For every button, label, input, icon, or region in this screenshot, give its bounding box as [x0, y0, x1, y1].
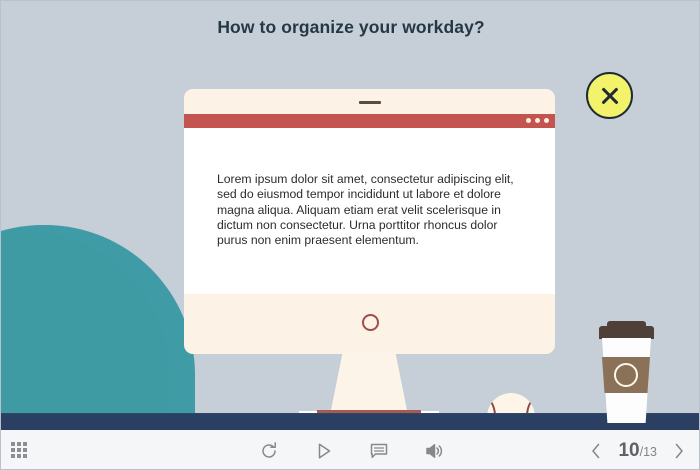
- speech-bubble-icon[interactable]: [367, 439, 391, 463]
- window-dot: [535, 118, 540, 123]
- grid-cell: [23, 454, 27, 458]
- monitor-home-button: [362, 314, 379, 331]
- replay-icon[interactable]: [257, 439, 281, 463]
- course-player: How to organize your workday? Lorem ipsu…: [0, 0, 700, 470]
- grid-cell: [17, 448, 21, 452]
- grid-cell: [17, 454, 21, 458]
- desk-surface: [1, 414, 700, 430]
- slide-body-text: Lorem ipsum dolor sit amet, consectetur …: [217, 172, 517, 248]
- close-button[interactable]: [586, 72, 633, 119]
- grid-cell: [17, 442, 21, 446]
- page-title: How to organize your workday?: [1, 17, 700, 38]
- grid-cell: [23, 442, 27, 446]
- coffee-logo-icon: [614, 363, 638, 387]
- coffee-lid: [599, 326, 654, 339]
- window-titlebar: [184, 114, 555, 128]
- next-page-button[interactable]: [669, 439, 689, 463]
- page-counter: 10 /13: [618, 440, 657, 462]
- total-pages: /13: [640, 445, 657, 459]
- grid-cell: [11, 448, 15, 452]
- window-dot: [526, 118, 531, 123]
- player-toolbar: 10 /13: [1, 431, 700, 470]
- play-icon[interactable]: [312, 439, 336, 463]
- window-dot: [544, 118, 549, 123]
- window-controls-dots: [526, 118, 549, 123]
- grid-cell: [11, 454, 15, 458]
- grid-cell: [11, 442, 15, 446]
- prev-page-button[interactable]: [586, 439, 606, 463]
- page-navigation: 10 /13: [586, 431, 689, 470]
- current-page-number: 10: [618, 440, 639, 462]
- grid-menu-icon[interactable]: [11, 442, 27, 458]
- volume-icon[interactable]: [422, 439, 446, 463]
- slide-stage: How to organize your workday? Lorem ipsu…: [1, 1, 700, 430]
- webcam-icon: [359, 101, 381, 104]
- monitor-neck: [330, 353, 408, 415]
- grid-cell: [23, 448, 27, 452]
